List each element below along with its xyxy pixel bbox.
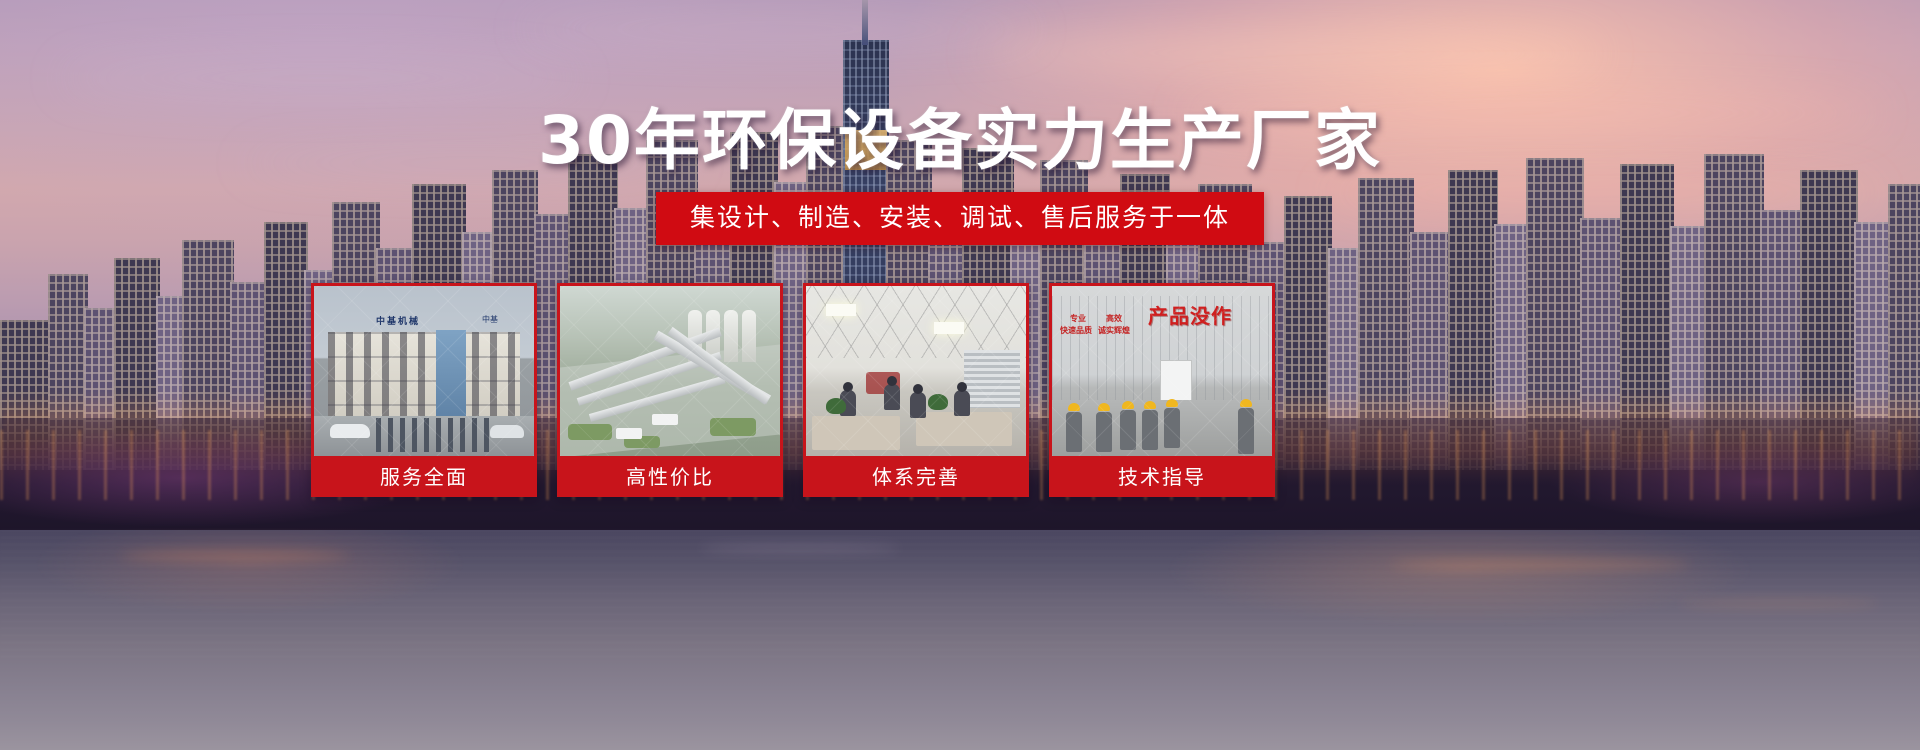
factory-workers-photo: 产品没作 专业 快速品质 高效 诚实辉煌 [1052,286,1272,456]
feature-card-label: 体系完善 [806,456,1026,494]
aerial-factory-photo [560,286,780,456]
office-building-photo: 中基机械 中基 [314,286,534,456]
factory-slogan-small-3: 高效 [1106,314,1122,323]
subtitle-banner-wrap: 集设计、制造、安装、调试、售后服务于一体 [0,192,1920,245]
building-sign-label: 中基机械 [376,314,420,327]
subtitle-banner: 集设计、制造、安装、调试、售后服务于一体 [656,192,1264,245]
water-reflections [0,530,1920,660]
feature-card[interactable]: 中基机械 中基 服务全面 [311,283,537,497]
hero-banner: 30年环保设备实力生产厂家 集设计、制造、安装、调试、售后服务于一体 中基机械 … [0,0,1920,750]
office-interior-photo [806,286,1026,456]
feature-card-label: 服务全面 [314,456,534,494]
factory-slogan-small-4: 诚实辉煌 [1098,326,1130,335]
feature-card-list: 中基机械 中基 服务全面 [311,283,1611,493]
feature-card[interactable]: 产品没作 专业 快速品质 高效 诚实辉煌 技术指导 [1049,283,1275,497]
building-sign-secondary: 中基 [482,314,498,325]
feature-card-label: 技术指导 [1052,456,1272,494]
page-title: 30年环保设备实力生产厂家 [0,104,1920,178]
factory-slogan-small-1: 专业 [1070,314,1086,323]
feature-card[interactable]: 体系完善 [803,283,1029,497]
feature-card[interactable]: 高性价比 [557,283,783,497]
factory-slogan-large: 产品没作 [1148,300,1232,329]
factory-slogan-small-2: 快速品质 [1060,326,1092,335]
feature-card-label: 高性价比 [560,456,780,494]
